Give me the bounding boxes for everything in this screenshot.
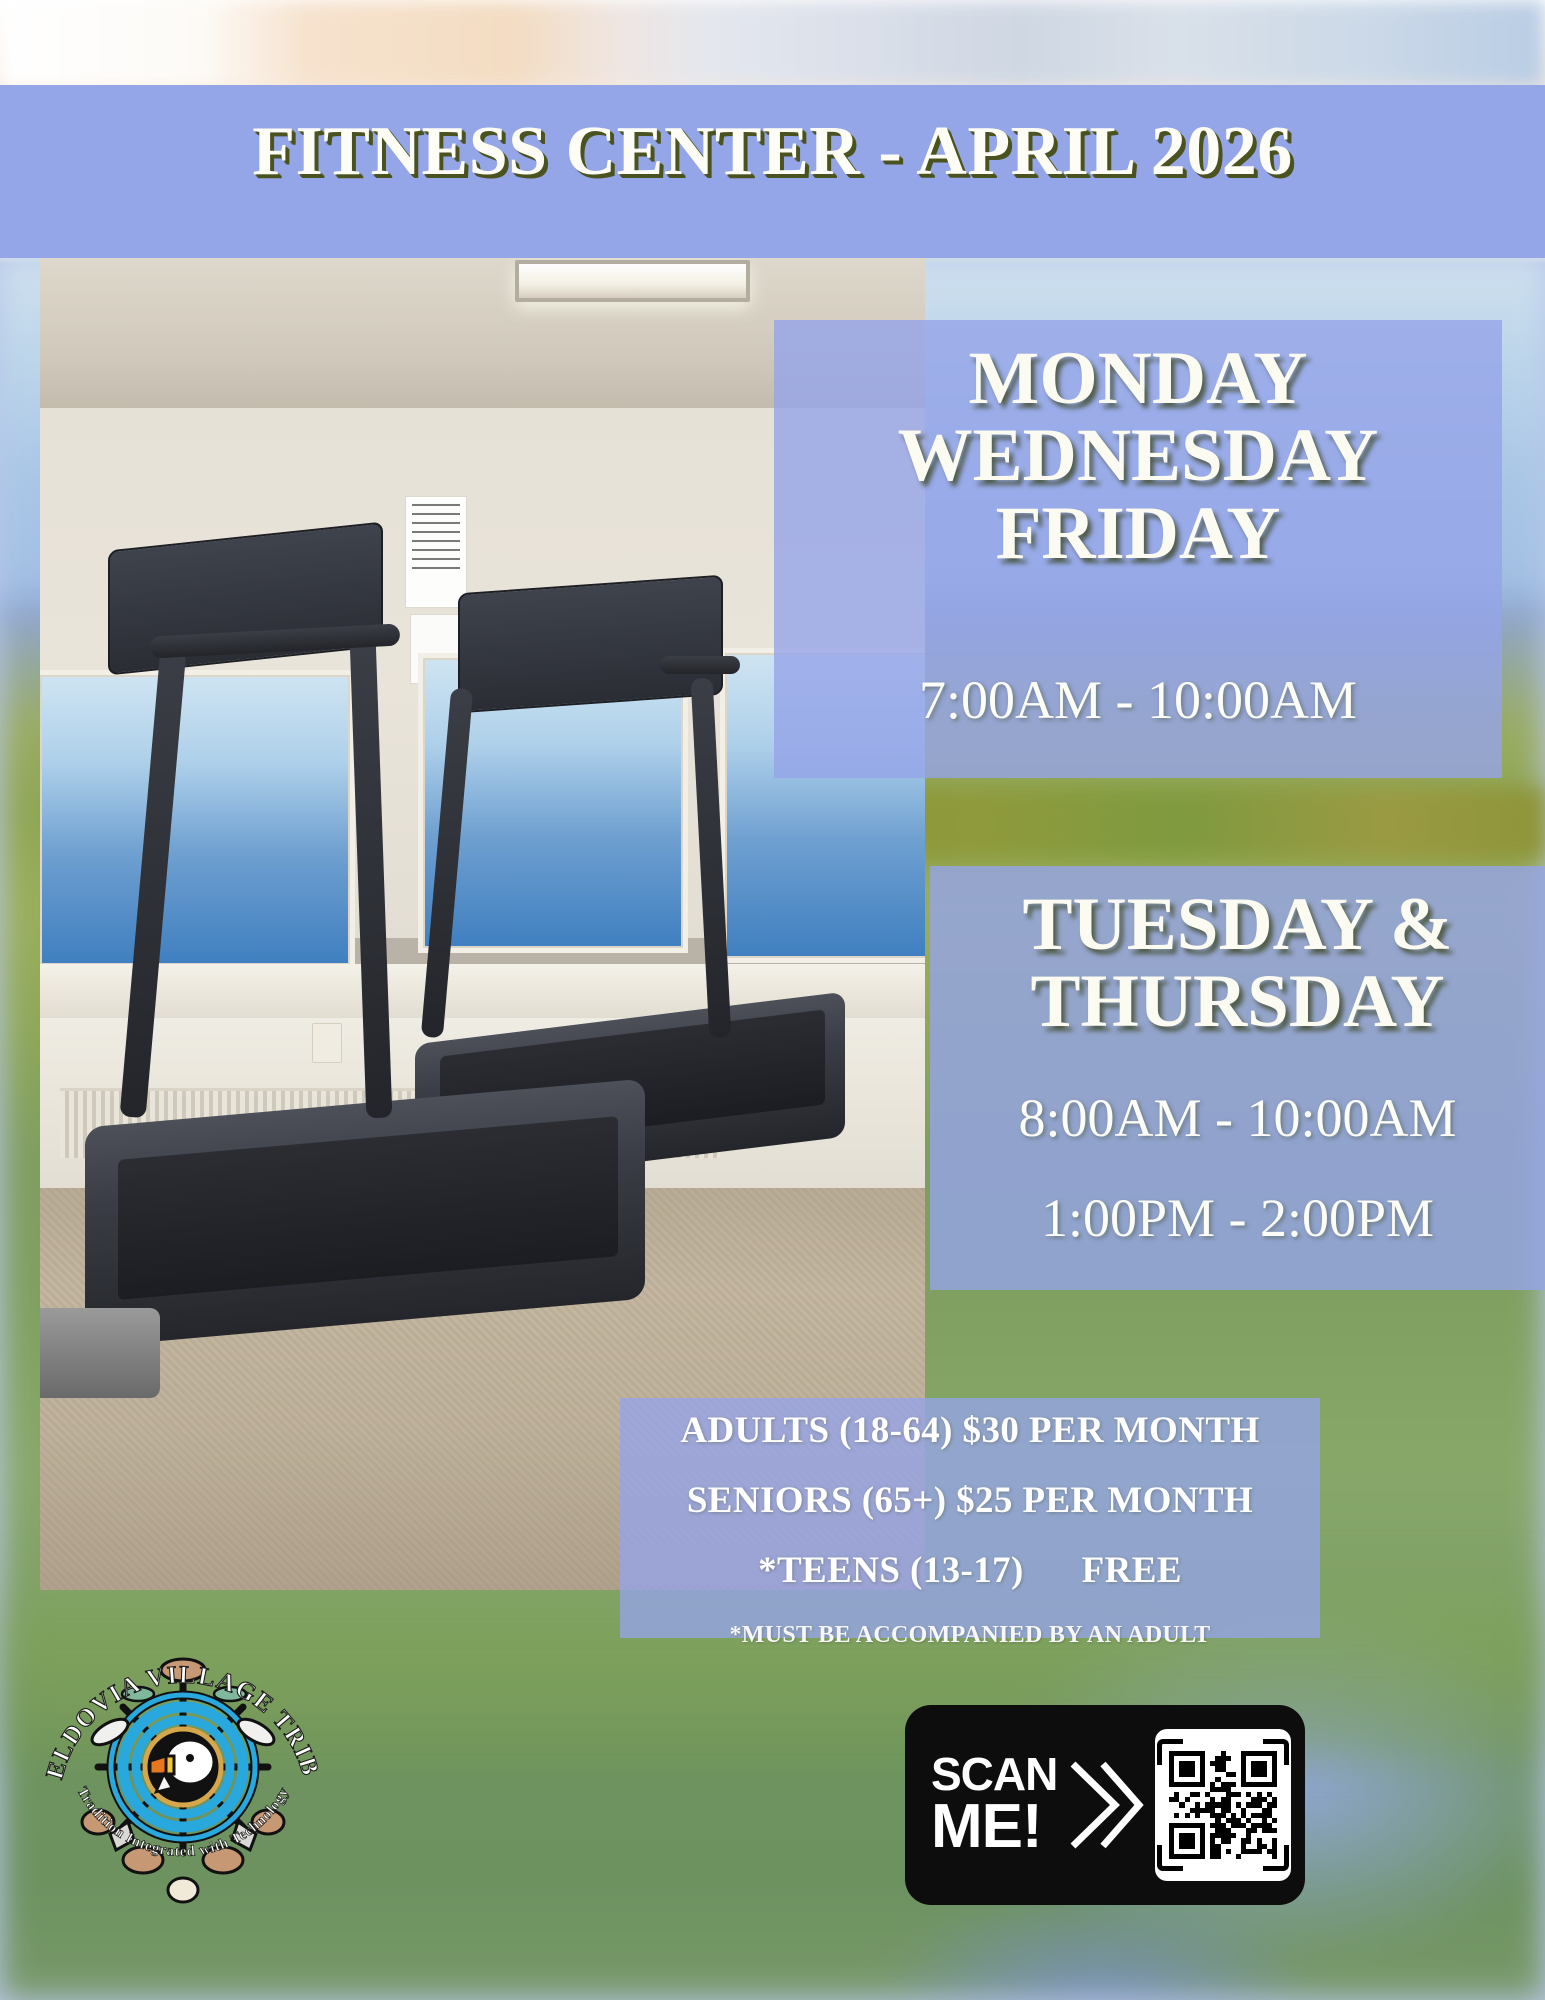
pricing-row-adults: ADULTS (18-64) $30 PER MONTH [620,1412,1320,1449]
schedule-time-morning-tue-thu: 8:00AM - 10:00AM [930,1090,1545,1147]
qr-module-grid [1169,1751,1277,1859]
background-blur-top [0,0,1545,88]
poster-canvas: FITNESS CENTER - APRIL 2026 [0,0,1545,2000]
double-chevron-right-icon [1065,1750,1145,1860]
schedule-days-mon-wed-fri: MONDAY WEDNESDAY FRIDAY [774,340,1502,572]
schedule-day-line: THURSDAY [930,963,1545,1040]
scan-line-1: SCAN [931,1752,1057,1797]
schedule-time-line: 1:00PM - 2:00PM [930,1190,1545,1247]
schedule-days-tue-thu: TUESDAY & THURSDAY [930,886,1545,1041]
tribe-seal-icon: SELDOVIA VILLAGE TRIBE Tradition Integra… [38,1622,328,1912]
scan-me-badge[interactable]: SCAN ME! [905,1705,1305,1905]
pricing-list: ADULTS (18-64) $30 PER MONTH SENIORS (65… [620,1412,1320,1649]
qr-code-icon[interactable] [1155,1729,1291,1881]
photo-treadmill-rear-handlebar [660,656,740,674]
pricing-footnote: *MUST BE ACCOMPANIED BY AN ADULT [620,1622,1320,1649]
page-title: FITNESS CENTER - APRIL 2026 [0,112,1545,192]
eagle-icon [168,1878,198,1902]
pricing-row-seniors: SENIORS (65+) $25 PER MONTH [620,1482,1320,1519]
scan-me-label: SCAN ME! [931,1752,1057,1858]
schedule-day-line: WEDNESDAY [774,417,1502,494]
schedule-times-mon-wed-fri: 7:00AM - 10:00AM [774,672,1502,729]
schedule-day-line: TUESDAY & [930,886,1545,963]
seldovia-village-tribe-logo: SELDOVIA VILLAGE TRIBE Tradition Integra… [38,1622,328,1912]
photo-ceiling-light [515,260,750,302]
schedule-time-line: 8:00AM - 10:00AM [930,1090,1545,1147]
photo-treadmill-side-rail [40,1308,160,1398]
scan-line-2: ME! [931,1797,1057,1858]
schedule-time-line: 7:00AM - 10:00AM [774,672,1502,729]
schedule-day-line: FRIDAY [774,495,1502,572]
photo-outlet-a [312,1023,342,1063]
pricing-row-teens: *TEENS (13-17) FREE [620,1552,1320,1589]
schedule-day-line: MONDAY [774,340,1502,417]
photo-wall-sign [405,496,467,608]
photo-treadmill-rear-console [458,575,723,714]
photo-window-left [40,670,355,970]
schedule-time-afternoon-tue-thu: 1:00PM - 2:00PM [930,1190,1545,1247]
